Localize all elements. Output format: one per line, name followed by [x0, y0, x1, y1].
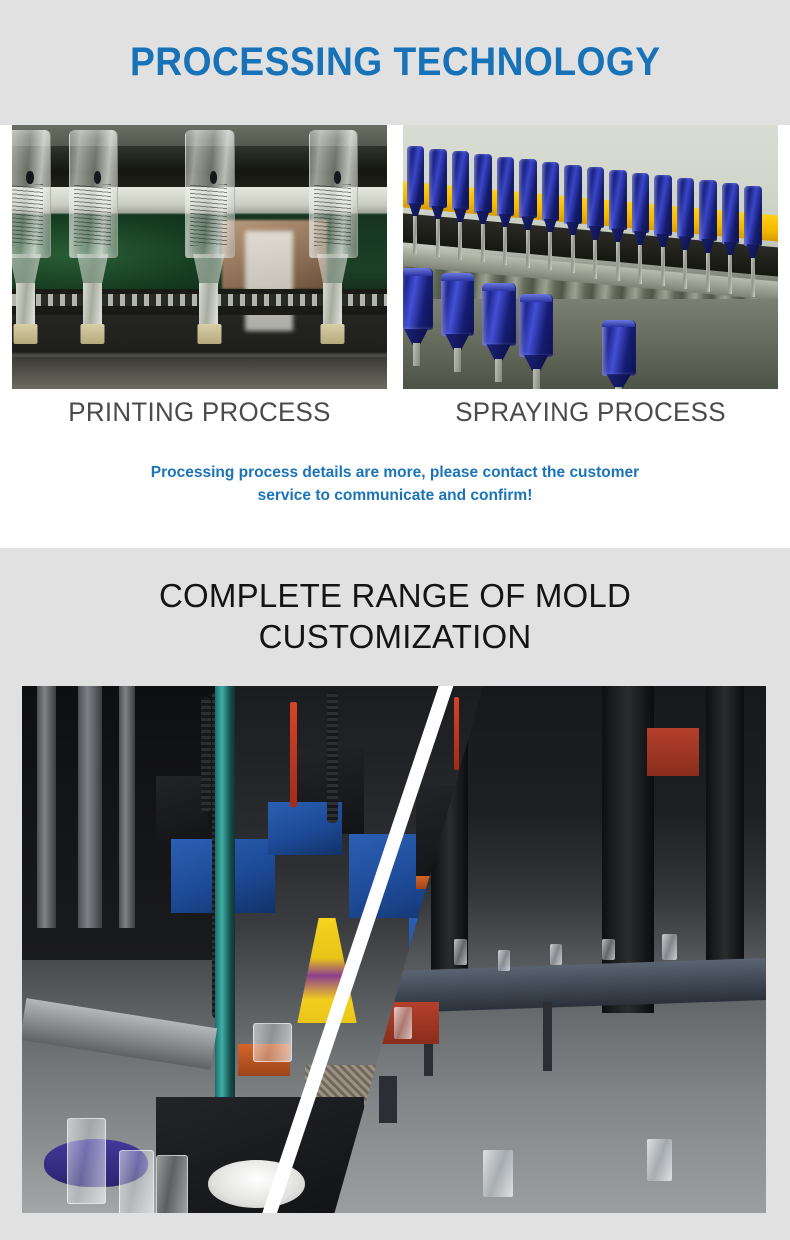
blue-bottle — [587, 167, 604, 265]
blue-bottle — [429, 149, 446, 244]
factory-pillar — [119, 686, 135, 928]
blue-bottle-foreground — [602, 320, 636, 389]
glass-item — [498, 950, 510, 971]
glass-item — [483, 1150, 513, 1197]
processing-technology-section: PRINTING PROCESS SPRAYING PROCESS Proces… — [0, 125, 790, 548]
mold-title-line-1: COMPLETE RANGE OF MOLD — [0, 575, 790, 616]
factory-pillar — [37, 686, 56, 928]
glass-bottle — [119, 1150, 154, 1213]
glass-item — [394, 1007, 412, 1039]
blue-bottle — [699, 180, 716, 278]
mold-section-title: COMPLETE RANGE OF MOLD CUSTOMIZATION — [0, 575, 790, 657]
glass-vial — [181, 130, 237, 336]
glass-item — [662, 934, 677, 960]
blue-bottle-foreground — [519, 294, 553, 384]
printing-process-caption: PRINTING PROCESS — [20, 397, 380, 428]
factory-pillar — [78, 686, 102, 928]
glass-vial — [12, 130, 53, 336]
glass-item — [602, 939, 615, 960]
blue-bottle-foreground — [441, 273, 475, 363]
blue-bottle — [609, 170, 626, 268]
glass-bottle — [67, 1118, 106, 1204]
blue-bottle — [564, 165, 581, 260]
glass-vial — [305, 130, 361, 336]
processing-note-line-1: Processing process details are more, ple… — [0, 461, 790, 484]
blue-bottle — [722, 183, 739, 281]
printing-process-photo — [12, 125, 387, 389]
spraying-process-caption: SPRAYING PROCESS — [411, 397, 771, 428]
floor-object — [379, 1076, 397, 1123]
printing-blurred-worker — [245, 231, 294, 331]
machine-hose — [327, 691, 338, 823]
glass-vial — [65, 130, 121, 336]
blue-bottle — [654, 175, 671, 273]
blue-bottle — [744, 186, 761, 284]
factory-column — [706, 686, 743, 976]
mold-production-photo — [22, 686, 766, 1213]
mold-customization-section: COMPLETE RANGE OF MOLD CUSTOMIZATION — [0, 548, 790, 1240]
blue-bottle — [542, 162, 559, 257]
machine-hose — [201, 697, 211, 813]
printing-foreground-rail — [12, 357, 387, 389]
blue-bottle — [407, 146, 424, 241]
blue-bottle — [474, 154, 491, 249]
page-title: PROCESSING TECHNOLOGY — [130, 40, 661, 85]
processing-technology-header: PROCESSING TECHNOLOGY — [0, 0, 790, 125]
blue-bottle — [632, 173, 649, 271]
blue-bottle — [497, 157, 514, 252]
glass-item — [454, 939, 467, 965]
red-equipment — [647, 728, 699, 775]
glass-bottle — [156, 1155, 188, 1213]
glass-item — [253, 1023, 292, 1062]
conveyor-leg — [543, 1002, 552, 1071]
processing-note: Processing process details are more, ple… — [0, 461, 790, 507]
processing-note-line-2: service to communicate and confirm! — [0, 484, 790, 507]
blue-bottle — [519, 159, 536, 254]
blue-bottle — [452, 151, 469, 246]
process-caption-row: PRINTING PROCESS SPRAYING PROCESS — [12, 397, 778, 428]
mold-title-line-2: CUSTOMIZATION — [0, 616, 790, 657]
machine-red-wire — [454, 697, 460, 771]
process-photo-row — [12, 125, 778, 389]
machine-red-wire — [290, 702, 297, 807]
glass-item — [647, 1139, 672, 1181]
glass-item — [550, 944, 562, 965]
blue-bottle-foreground — [403, 268, 433, 358]
blue-bottle-foreground — [482, 283, 516, 373]
blue-bottle — [677, 178, 694, 276]
spraying-process-photo — [403, 125, 778, 389]
